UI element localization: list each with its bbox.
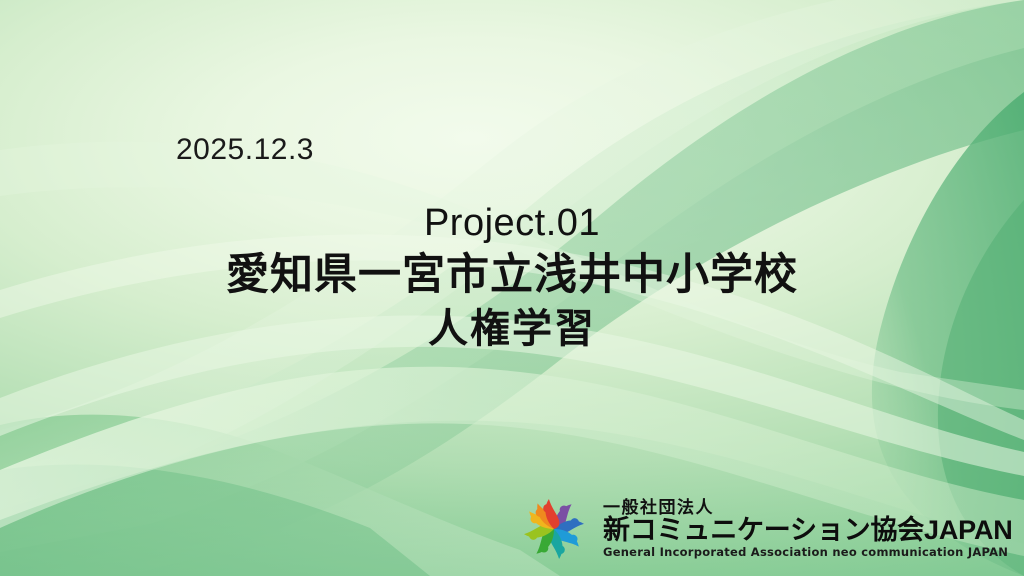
pinwheel-people-logo-icon xyxy=(514,489,594,569)
organization-logo: 一般社団法人 新コミュニケーション協会JAPAN General Incorpo… xyxy=(514,489,1013,569)
logo-text-block: 一般社団法人 新コミュニケーション協会JAPAN General Incorpo… xyxy=(603,499,1013,559)
title-block: Project.01 愛知県一宮市立浅井中小学校 人権学習 xyxy=(0,203,1024,355)
logo-corporate-type: 一般社団法人 xyxy=(603,499,1013,516)
school-name: 愛知県一宮市立浅井中小学校 xyxy=(0,248,1024,302)
lesson-theme: 人権学習 xyxy=(0,304,1024,354)
project-label: Project.01 xyxy=(0,203,1024,244)
slide-date: 2025.12.3 xyxy=(176,133,314,167)
logo-org-name: 新コミュニケーション協会JAPAN xyxy=(603,517,1013,544)
logo-org-name-english: General Incorporated Association neo com… xyxy=(603,547,1013,559)
slide-canvas: 2025.12.3 Project.01 愛知県一宮市立浅井中小学校 人権学習 xyxy=(0,0,1024,576)
